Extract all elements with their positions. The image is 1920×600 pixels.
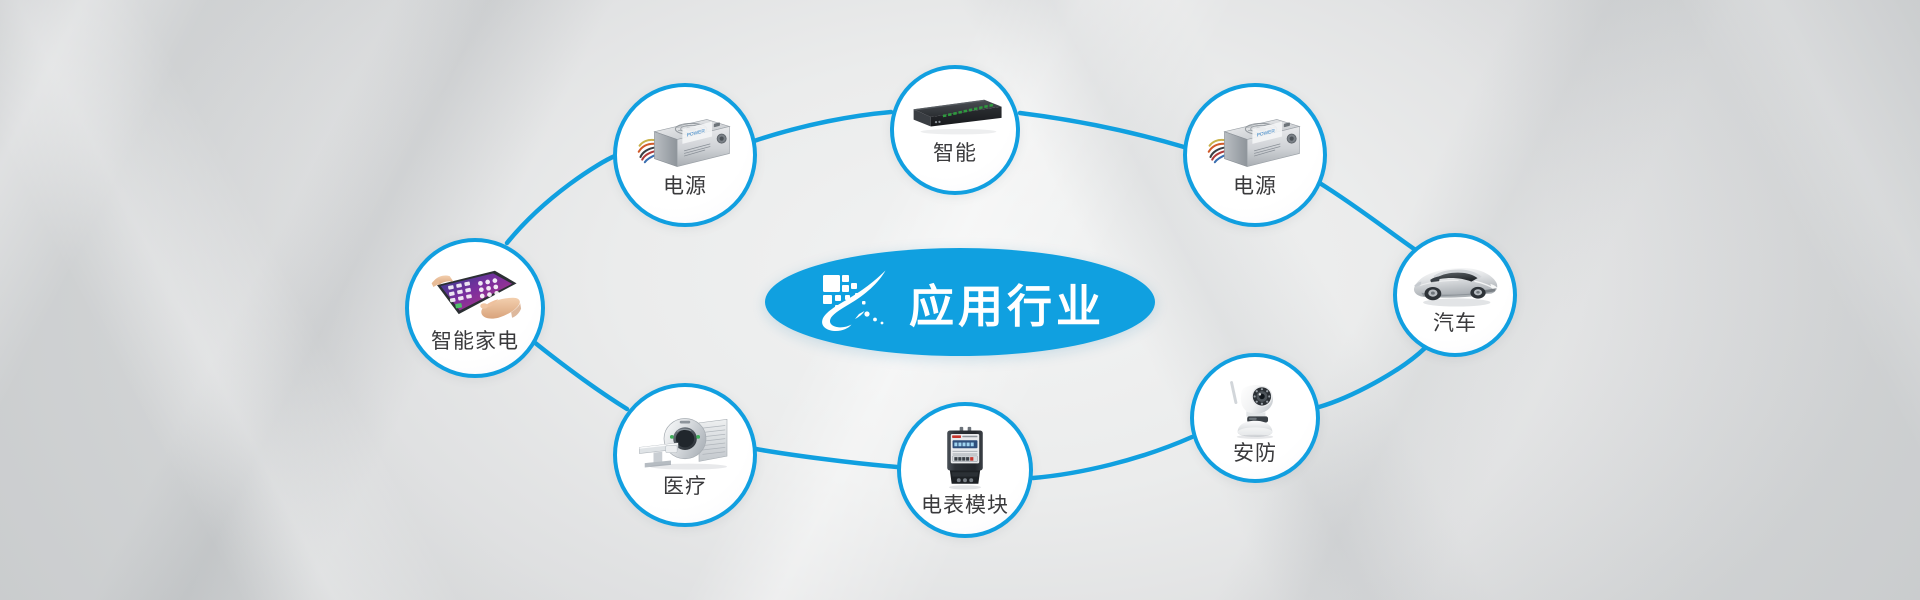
node-power-right[interactable]: POWER 电源	[1183, 83, 1327, 227]
center-badge-title: 应用行业	[909, 270, 1105, 335]
node-smart[interactable]: 智能	[890, 65, 1020, 195]
link-automotive-to-security	[1319, 348, 1425, 407]
mri-scanner-icon	[617, 414, 753, 472]
orbit-pixel-swirl-logo-icon	[815, 267, 893, 337]
pc-power-supply-icon: POWER	[617, 114, 753, 172]
link-smart-home-to-power-left	[507, 156, 615, 243]
node-medical[interactable]: 医疗	[613, 383, 757, 527]
node-label: 智能家电	[431, 331, 519, 352]
link-power-right-to-automotive	[1318, 182, 1420, 253]
node-label: 汽车	[1433, 313, 1477, 334]
link-smart-to-power-right	[1020, 113, 1184, 147]
link-security-to-meter	[1033, 437, 1192, 478]
application-industries-graphic: 应用行业	[0, 0, 1920, 600]
node-smart-home[interactable]: 智能家电	[405, 238, 545, 378]
tablet-touch-icon	[409, 265, 541, 327]
ip-camera-icon	[1194, 373, 1316, 439]
rack-server-icon	[894, 97, 1016, 137]
electricity-meter-icon	[901, 425, 1029, 491]
node-power-left[interactable]: POWER 电源	[613, 83, 757, 227]
node-label: 电源	[663, 176, 707, 197]
node-label: 电源	[1233, 176, 1277, 197]
center-badge[interactable]: 应用行业	[765, 248, 1155, 356]
link-power-left-to-smart	[754, 112, 891, 141]
node-automotive[interactable]: 汽车	[1393, 233, 1517, 357]
node-security[interactable]: 安防	[1190, 353, 1320, 483]
pc-power-supply-icon: POWER	[1187, 114, 1323, 172]
node-label: 安防	[1233, 443, 1277, 464]
node-label: 医疗	[663, 476, 707, 497]
node-meter[interactable]: 电表模块	[897, 402, 1033, 538]
node-label: 智能	[933, 143, 977, 164]
sports-car-icon	[1397, 257, 1513, 309]
node-label: 电表模块	[921, 495, 1009, 516]
link-meter-to-medical	[756, 449, 897, 467]
